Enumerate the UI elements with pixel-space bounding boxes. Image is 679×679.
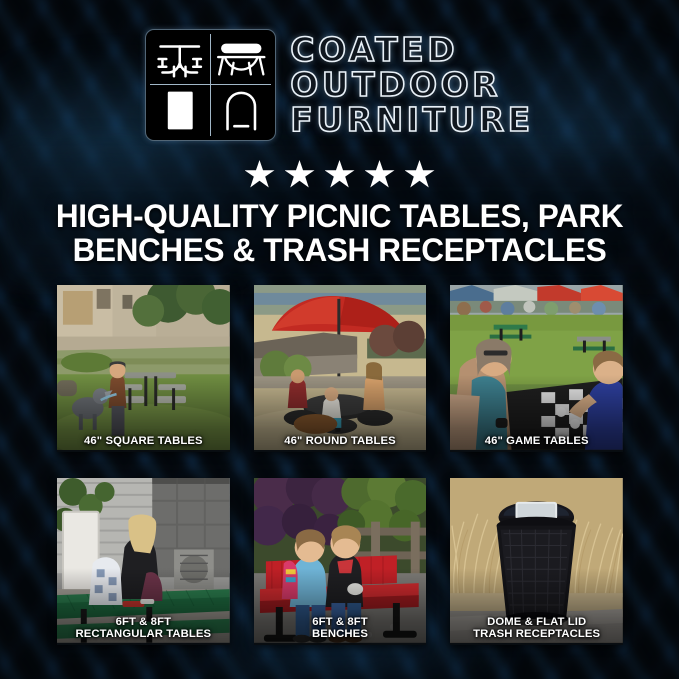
product-tile-square-tables[interactable]: 46" SQUARE TABLES [57,285,230,452]
bike-rack-icon [211,85,272,136]
headline: HIGH-QUALITY PICNIC TABLES, PARK BENCHES… [35,200,643,268]
park-bench-icon [211,34,272,85]
product-caption: 46" ROUND TABLES [257,435,424,447]
product-tile-rectangular-tables[interactable]: 6FT & 8FT RECTANGULAR TABLES [57,478,230,645]
product-caption: DOME & FLAT LID TRASH RECEPTACLES [453,616,620,640]
trash-receptacle-icon [150,85,211,136]
product-caption: 46" SQUARE TABLES [60,435,227,447]
logo-line-coated: COATED [290,33,533,67]
product-tile-game-tables[interactable]: 46" GAME TABLES [450,285,623,452]
logo-line-furniture: FURNITURE [290,103,533,137]
logo-wordmark: COATED OUTDOOR FURNITURE [290,33,533,138]
picnic-table-icon [150,34,211,85]
product-caption: 6FT & 8FT RECTANGULAR TABLES [60,616,227,640]
headline-line-2: BENCHES & TRASH RECEPTACLES [35,234,643,268]
rating-stars [0,160,679,189]
logo-line-outdoor: OUTDOOR [290,68,533,102]
star-icon [365,160,395,189]
product-tile-round-tables[interactable]: 46" ROUND TABLES [254,285,427,452]
product-caption: 6FT & 8FT BENCHES [257,616,424,640]
star-icon [405,160,435,189]
brand-logo: COATED OUTDOOR FURNITURE [0,29,679,141]
product-grid: 46" SQUARE TABLES [57,285,623,645]
product-tile-trash-receptacles[interactable]: DOME & FLAT LID TRASH RECEPTACLES [450,478,623,645]
product-caption: 46" GAME TABLES [453,435,620,447]
star-icon [325,160,355,189]
star-icon [245,160,275,189]
logo-icon-grid [145,29,276,141]
product-tile-benches[interactable]: 6FT & 8FT BENCHES [254,478,427,645]
star-icon [285,160,315,189]
headline-line-1: HIGH-QUALITY PICNIC TABLES, PARK [56,198,623,234]
